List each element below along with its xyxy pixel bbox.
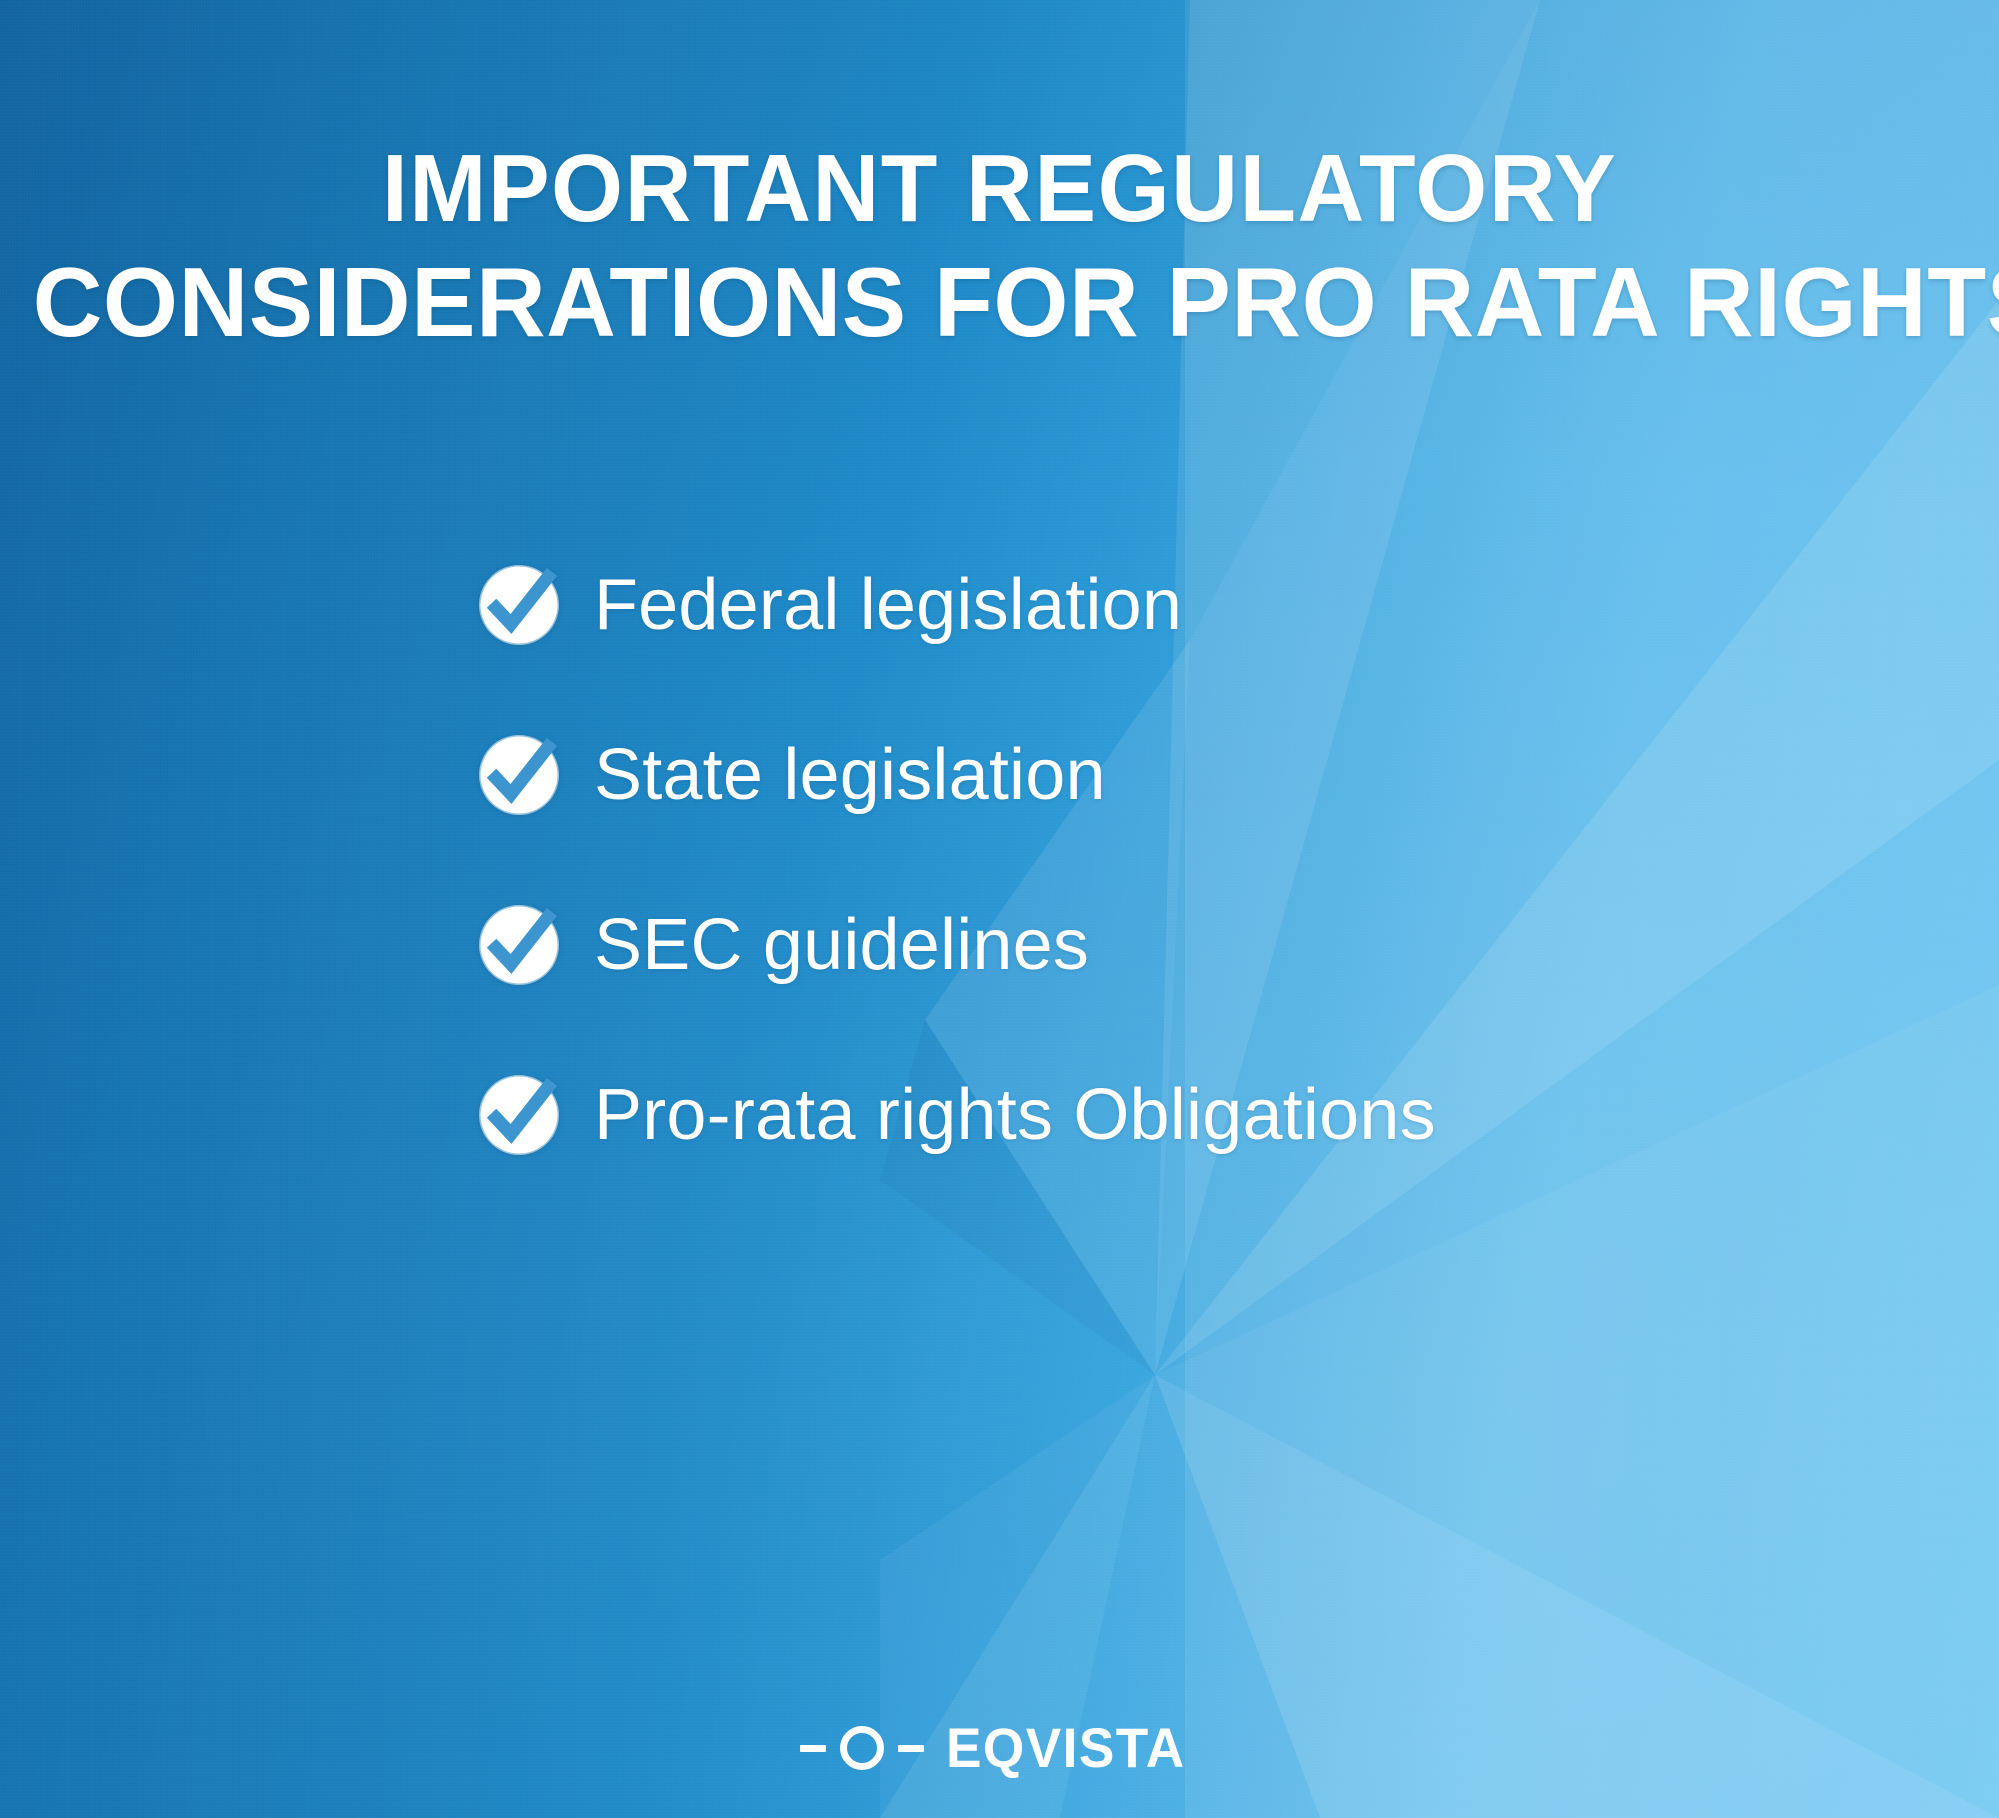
check-circle-icon (478, 734, 560, 816)
title-line-1: IMPORTANT REGULATORY (52, 132, 1946, 245)
check-circle-icon (478, 564, 560, 646)
logo-ring (840, 1726, 884, 1770)
poster-content: IMPORTANT REGULATORY CONSIDERATIONS FOR … (0, 0, 1999, 1818)
list-item-label: State legislation (594, 739, 1106, 811)
list-item: Federal legislation (478, 520, 1878, 690)
list-item-label: Federal legislation (594, 569, 1182, 641)
logo-dash-left (800, 1745, 826, 1752)
title-line-2: CONSIDERATIONS FOR PRO RATA RIGHTS (33, 245, 1967, 361)
brand-logo: EQVISTA (0, 1720, 1999, 1776)
list-item-label: Pro-rata rights Obligations (594, 1079, 1436, 1151)
brand-name: EQVISTA (946, 1720, 1186, 1776)
checklist: Federal legislation State legislation (478, 520, 1878, 1200)
check-circle-icon (478, 1074, 560, 1156)
list-item: SEC guidelines (478, 860, 1878, 1030)
list-item: State legislation (478, 690, 1878, 860)
check-circle-icon (478, 904, 560, 986)
poster-canvas: IMPORTANT REGULATORY CONSIDERATIONS FOR … (0, 0, 1999, 1818)
page-title: IMPORTANT REGULATORY CONSIDERATIONS FOR … (0, 132, 1999, 361)
list-item-label: SEC guidelines (594, 909, 1089, 981)
eqvista-ring-logo-icon (800, 1726, 924, 1770)
logo-dash-right (898, 1745, 924, 1752)
list-item: Pro-rata rights Obligations (478, 1030, 1878, 1200)
